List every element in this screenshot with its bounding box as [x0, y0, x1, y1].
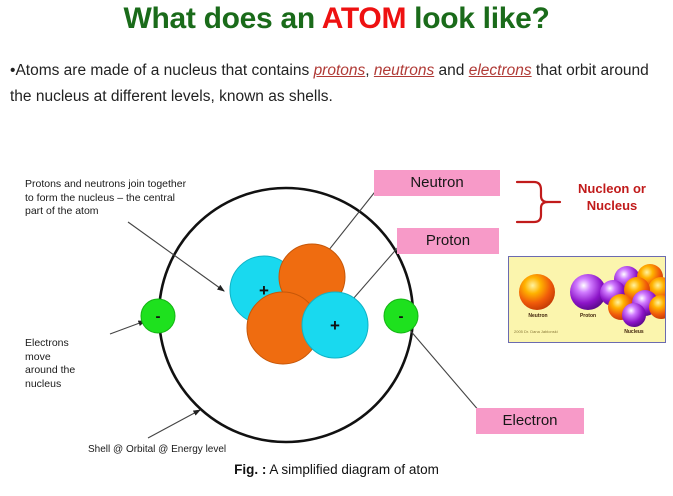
annotation-electrons: Electrons move around the nucleus — [25, 337, 125, 391]
leader-line-electrons — [110, 321, 145, 334]
leader-line-electron — [403, 322, 480, 412]
electron-charge-left: - — [156, 308, 161, 325]
atom-diagram: + + - - Protons and neutrons join togeth… — [0, 0, 673, 496]
nucleon-bracket — [517, 182, 548, 222]
callout-label-electron: Electron — [476, 408, 584, 434]
proton-charge-top-left: + — [259, 281, 269, 300]
proton-charge-bottom-right: + — [330, 316, 340, 335]
callout-label-neutron: Neutron — [374, 170, 500, 196]
figure-caption: Fig. : A simplified diagram of atom — [0, 462, 673, 477]
annotation-nucleus: Protons and neutrons join together to fo… — [25, 178, 230, 219]
callout-label-proton: Proton — [397, 228, 499, 254]
inset-caption-nucleus: Nucleus — [609, 329, 659, 335]
leader-line-shell — [148, 410, 200, 438]
inset-caption-proton: Proton — [567, 313, 609, 319]
figure-caption-lead: Fig. : — [234, 462, 266, 477]
nucleon-inset-image: Neutron Proton Nucleus 2005 Dr. Dana Jab… — [508, 256, 666, 343]
nucleon-caption: Nucleon or Nucleus — [556, 180, 668, 214]
inset-caption-neutron: Neutron — [517, 313, 559, 319]
inset-credit-line: 2005 Dr. Dana Jablonski — [514, 329, 558, 334]
leader-line-nucleus — [128, 222, 224, 291]
annotation-shell: Shell @ Orbital @ Energy level — [88, 443, 308, 457]
inset-nucleus-cluster — [600, 264, 666, 327]
inset-neutron-sphere — [519, 274, 555, 310]
electron-charge-right: - — [399, 308, 404, 325]
figure-caption-text: A simplified diagram of atom — [266, 462, 439, 477]
